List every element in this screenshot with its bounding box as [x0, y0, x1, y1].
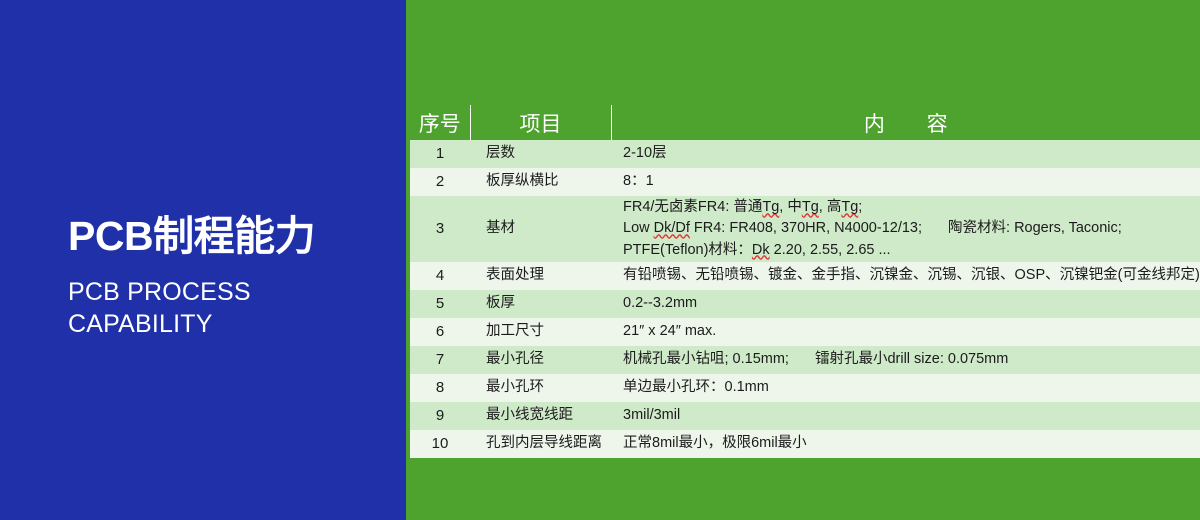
right-content-panel: 序号 项目 内 容 1 层数 2-10层 2 板厚纵横比	[406, 0, 1200, 520]
row-number: 1	[410, 140, 470, 168]
row-number: 9	[410, 402, 470, 430]
row-content-line: Low Dk/Df FR4: FR408, 370HR, N4000-12/13…	[623, 218, 1196, 239]
table-body: 1 层数 2-10层 2 板厚纵横比 8：1 3 基材	[410, 140, 1200, 458]
row-content-line: 2-10层	[623, 143, 1196, 164]
column-header-content-label: 内 容	[846, 113, 966, 136]
table-row: 3 基材 FR4/无卤素FR4: 普通Tg, 中Tg, 高Tg; Low Dk/…	[410, 196, 1200, 262]
row-number: 8	[410, 374, 470, 402]
row-item: 加工尺寸	[470, 318, 611, 346]
table-row: 2 板厚纵横比 8：1	[410, 168, 1200, 196]
title-block: PCB制程能力 PCB PROCESS CAPABILITY	[68, 215, 398, 340]
row-content-line: 3mil/3mil	[623, 405, 1196, 426]
table-row: 10 孔到内层导线距离 正常8mil最小，极限6mil最小	[410, 430, 1200, 458]
row-item: 层数	[470, 140, 611, 168]
row-content-line: FR4/无卤素FR4: 普通Tg, 中Tg, 高Tg;	[623, 197, 1196, 218]
column-header-content: 内 容	[611, 105, 1200, 140]
min-hole-mech-text: 机械孔最小钻咀; 0.15mm;	[623, 351, 789, 367]
row-content: FR4/无卤素FR4: 普通Tg, 中Tg, 高Tg; Low Dk/Df FR…	[611, 196, 1200, 262]
table-header-row: 序号 项目 内 容	[410, 105, 1200, 140]
row-item: 板厚纵横比	[470, 168, 611, 196]
row-number: 2	[410, 168, 470, 196]
row-number: 4	[410, 262, 470, 290]
row-content: 正常8mil最小，极限6mil最小	[611, 430, 1200, 458]
column-header-item: 项目	[470, 105, 611, 140]
table-row: 6 加工尺寸 21″ x 24″ max.	[410, 318, 1200, 346]
table-row: 5 板厚 0.2--3.2mm	[410, 290, 1200, 318]
row-content-line: PTFE(Teflon)材料：Dk 2.20, 2.55, 2.65 ...	[623, 240, 1196, 261]
row-item: 最小线宽线距	[470, 402, 611, 430]
min-hole-laser-text: 镭射孔最小drill size: 0.075mm	[815, 351, 1008, 367]
table-row: 7 最小孔径 机械孔最小钻咀; 0.15mm;镭射孔最小drill size: …	[410, 346, 1200, 374]
row-content: 3mil/3mil	[611, 402, 1200, 430]
table-row: 4 表面处理 有铅喷锡、无铅喷锡、镀金、金手指、沉镍金、沉锡、沉银、OSP、沉镍…	[410, 262, 1200, 290]
pcb-capability-table: 序号 项目 内 容 1 层数 2-10层 2 板厚纵横比	[410, 105, 1200, 458]
row-number: 3	[410, 196, 470, 262]
page-subtitle-line-1: PCB PROCESS	[68, 276, 398, 308]
slide-canvas: PCB制程能力 PCB PROCESS CAPABILITY 序号 项目 内 容	[0, 0, 1200, 520]
row-content-line: 机械孔最小钻咀; 0.15mm;镭射孔最小drill size: 0.075mm	[623, 349, 1196, 370]
row-content-line: 8：1	[623, 171, 1196, 192]
substrate-ceramic-text: 陶瓷材料: Rogers, Taconic;	[948, 220, 1122, 236]
row-number: 5	[410, 290, 470, 318]
row-number: 7	[410, 346, 470, 374]
row-item: 板厚	[470, 290, 611, 318]
substrate-ptfe-text: PTFE(Teflon)材料：Dk 2.20, 2.55, 2.65 ...	[623, 242, 891, 258]
page-title: PCB制程能力	[68, 215, 398, 258]
row-content-line: 0.2--3.2mm	[623, 293, 1196, 314]
row-item: 基材	[470, 196, 611, 262]
substrate-fr4-text: FR4/无卤素FR4: 普通Tg, 中Tg, 高Tg;	[623, 199, 862, 215]
table-row: 1 层数 2-10层	[410, 140, 1200, 168]
row-item: 最小孔径	[470, 346, 611, 374]
row-content: 0.2--3.2mm	[611, 290, 1200, 318]
row-content: 2-10层	[611, 140, 1200, 168]
row-content-line: 21″ x 24″ max.	[623, 321, 1196, 342]
row-content-line: 单边最小孔环：0.1mm	[623, 377, 1196, 398]
row-number: 10	[410, 430, 470, 458]
page-subtitle: PCB PROCESS CAPABILITY	[68, 276, 398, 340]
row-content: 8：1	[611, 168, 1200, 196]
row-content-line: 正常8mil最小，极限6mil最小	[623, 433, 1196, 454]
row-content: 单边最小孔环：0.1mm	[611, 374, 1200, 402]
row-item: 最小孔环	[470, 374, 611, 402]
row-item: 孔到内层导线距离	[470, 430, 611, 458]
column-header-num: 序号	[410, 105, 470, 140]
table-row: 9 最小线宽线距 3mil/3mil	[410, 402, 1200, 430]
row-item: 表面处理	[470, 262, 611, 290]
table-row: 8 最小孔环 单边最小孔环：0.1mm	[410, 374, 1200, 402]
left-title-panel: PCB制程能力 PCB PROCESS CAPABILITY	[0, 0, 406, 520]
row-content-line: 有铅喷锡、无铅喷锡、镀金、金手指、沉镍金、沉锡、沉银、OSP、沉镍钯金(可金线邦…	[623, 265, 1196, 286]
row-content: 有铅喷锡、无铅喷锡、镀金、金手指、沉镍金、沉锡、沉银、OSP、沉镍钯金(可金线邦…	[611, 262, 1200, 290]
row-content: 机械孔最小钻咀; 0.15mm;镭射孔最小drill size: 0.075mm	[611, 346, 1200, 374]
row-number: 6	[410, 318, 470, 346]
substrate-lowdk-text: Low Dk/Df FR4: FR408, 370HR, N4000-12/13…	[623, 220, 922, 236]
row-content: 21″ x 24″ max.	[611, 318, 1200, 346]
page-subtitle-line-2: CAPABILITY	[68, 308, 398, 340]
table-header: 序号 项目 内 容	[410, 105, 1200, 140]
